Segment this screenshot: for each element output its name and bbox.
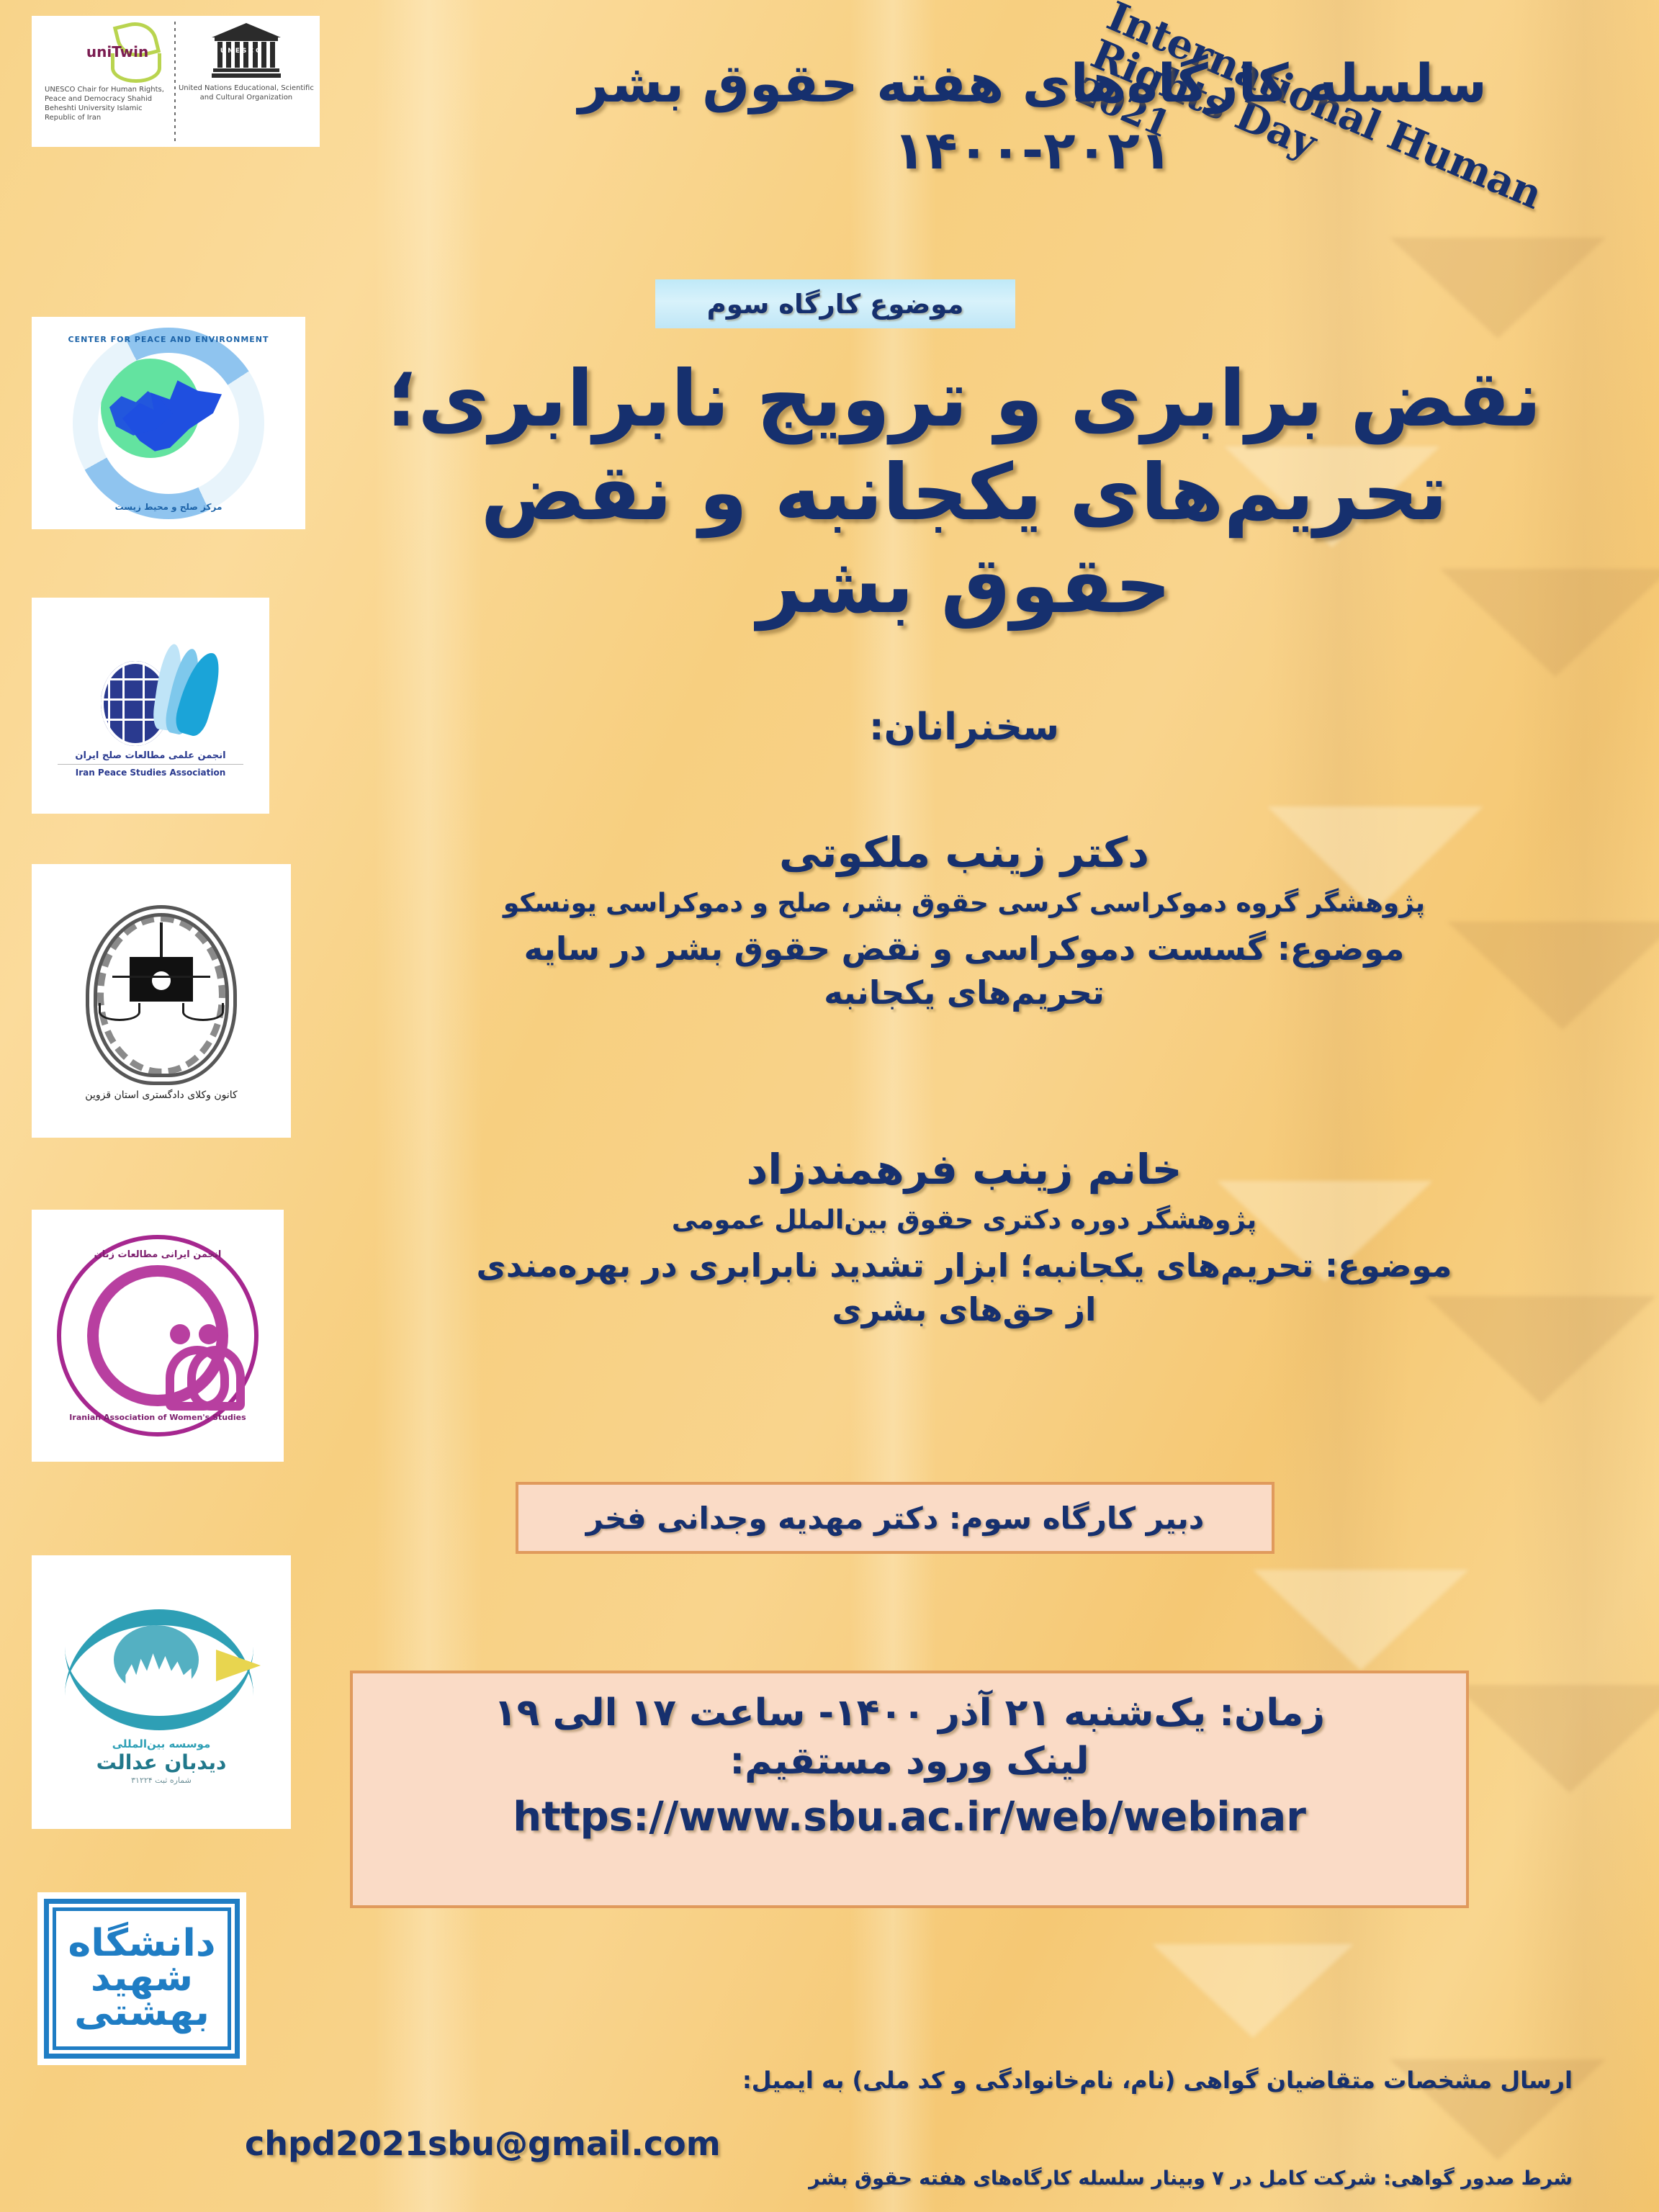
unesco-wordmark: UNESCO	[220, 48, 264, 55]
logo-iran-peace-studies-association: انجمن علمی مطالعات صلح ایران Iran Peace …	[32, 598, 269, 814]
logo-qazvin-bar-association: کانون وکلای دادگستری استان قزوین	[32, 864, 291, 1138]
logo-center-peace-environment: CENTER FOR PEACE AND ENVIRONMENT مرکز صل…	[32, 317, 305, 529]
certificate-condition-text: شرط صدور گواهی: شرکت کامل در ۷ وبینار سل…	[96, 2167, 1573, 2190]
iaws-english-name: Iranian Association of Women's Studies	[69, 1413, 246, 1422]
workshop-title-line2: تحریم‌های یکجانبه و نقض حقوق بشر	[356, 446, 1573, 633]
speaker-card: خانم زینب فرهمندزاد پژوهشگر دوره دکتری ح…	[356, 1145, 1573, 1331]
speakers-section-label: سخنرانان:	[356, 706, 1573, 749]
bg-triangle	[1455, 1685, 1659, 1793]
event-time: زمان: یک‌شنبه ۲۱ آذر ۱۴۰۰- ساعت ۱۷ الی ۱…	[382, 1689, 1437, 1737]
logo-unesco-unitwin: UNESCO United Nations Educational, Scien…	[32, 16, 320, 147]
speaker-name: دکتر زینب ملکوتی	[356, 828, 1573, 877]
logo-iranian-association-womens-studies: انجمن ایرانی مطالعات زنان Iranian Associ…	[32, 1210, 284, 1462]
globe-dove-icon	[82, 639, 219, 747]
workshop-topic-badge: موضوع کارگاه سوم	[655, 279, 1015, 328]
didban-registration-number: شماره ثبت ۳۱۲۲۴	[131, 1776, 192, 1785]
speaker-topic-line1: موضوع: گسست دموکراسی و نقض حقوق بشر در س…	[356, 927, 1573, 971]
unesco-temple-icon: UNESCO	[212, 23, 281, 79]
poster-canvas: UNESCO United Nations Educational, Scien…	[0, 0, 1659, 2212]
unitwin-icon: uniTwin	[85, 22, 171, 81]
workshop-title-line1: نقض برابری و ترویج نابرابری؛	[356, 353, 1573, 446]
bg-triangle	[1152, 1944, 1354, 2038]
sbu-frame: دانشگاه شهید بهشتی	[44, 1899, 240, 2059]
workshop-secretary-badge: دبیر کارگاه سوم: دکتر مهدیه وجدانی فخر	[516, 1482, 1274, 1554]
workshop-title: نقض برابری و ترویج نابرابری؛ تحریم‌های ی…	[356, 353, 1573, 633]
ipsa-english-name: Iran Peace Studies Association	[76, 768, 226, 778]
cpe-english-ring-text: CENTER FOR PEACE AND ENVIRONMENT	[68, 335, 269, 344]
peace-dove-globe-icon: CENTER FOR PEACE AND ENVIRONMENT مرکز صل…	[73, 328, 264, 519]
certificate-request-text: ارسال مشخصات متقاضیان گواهی (نام، نام‌خا…	[96, 2067, 1573, 2094]
cpe-persian-ring-text: مرکز صلح و محیط زیست	[115, 502, 222, 512]
event-webinar-link[interactable]: https://www.sbu.ac.ir/web/webinar	[382, 1794, 1437, 1840]
bg-stripe	[1512, 0, 1656, 2212]
speaker-topic-line2: از حق‌های بشری	[356, 1287, 1573, 1331]
speaker-affiliation: پژوهشگر دوره دکتری حقوق بین‌الملل عمومی	[356, 1205, 1573, 1235]
didban-line2: دیدبان عدالت	[96, 1750, 227, 1774]
scales-of-justice-wreath-icon	[86, 905, 237, 1085]
unesco-chair-caption: UNESCO Chair for Human Rights, Peace and…	[45, 85, 171, 122]
two-figures-circle-icon: انجمن ایرانی مطالعات زنان Iranian Associ…	[57, 1235, 258, 1437]
didban-line1: موسسه بین‌المللی	[112, 1737, 211, 1750]
sbu-persian-name: دانشگاه شهید بهشتی	[45, 1927, 238, 2030]
sponsor-logo-column: UNESCO United Nations Educational, Scien…	[0, 0, 338, 2212]
speaker-topic-line2: تحریم‌های یکجانبه	[356, 971, 1573, 1015]
contact-email[interactable]: chpd2021sbu@gmail.com	[245, 2124, 721, 2163]
speaker-affiliation: پژوهشگر گروه دموکراسی کرسی حقوق بشر، صلح…	[356, 889, 1573, 918]
eye-globe-hands-icon	[60, 1605, 262, 1735]
speaker-name: خانم زینب فرهمندزاد	[356, 1145, 1573, 1194]
speaker-card: دکتر زینب ملکوتی پژوهشگر گروه دموکراسی ک…	[356, 828, 1573, 1015]
divider-dotted	[174, 22, 176, 141]
series-title: سلسله کارگاه‌های هفته حقوق بشر ۱۴۰۰-۲۰۲۱	[493, 50, 1573, 185]
logo-shahid-beheshti-university: دانشگاه شهید بهشتی	[37, 1892, 246, 2065]
bg-triangle	[1253, 1570, 1469, 1671]
series-title-line1: سلسله کارگاه‌های هفته حقوق بشر	[493, 50, 1573, 117]
iaws-persian-name: انجمن ایرانی مطالعات زنان	[94, 1249, 222, 1260]
unesco-caption: United Nations Educational, Scientific a…	[179, 84, 314, 102]
divider-line	[58, 764, 243, 765]
event-link-label: لینک ورود مستقیم:	[382, 1737, 1437, 1786]
ipsa-persian-name: انجمن علمی مطالعات صلح ایران	[75, 750, 225, 761]
speaker-topic-line1: موضوع: تحریم‌های یکجانبه؛ ابزار تشدید نا…	[356, 1244, 1573, 1287]
logo-didban-edalat: موسسه بین‌المللی دیدبان عدالت شماره ثبت …	[32, 1555, 291, 1829]
unitwin-wordmark: uniTwin	[86, 43, 148, 60]
event-info-box: زمان: یک‌شنبه ۲۱ آذر ۱۴۰۰- ساعت ۱۷ الی ۱…	[350, 1671, 1469, 1908]
series-title-years: ۱۴۰۰-۲۰۲۱	[493, 117, 1573, 184]
bar-persian-name: کانون وکلای دادگستری استان قزوین	[85, 1089, 237, 1101]
